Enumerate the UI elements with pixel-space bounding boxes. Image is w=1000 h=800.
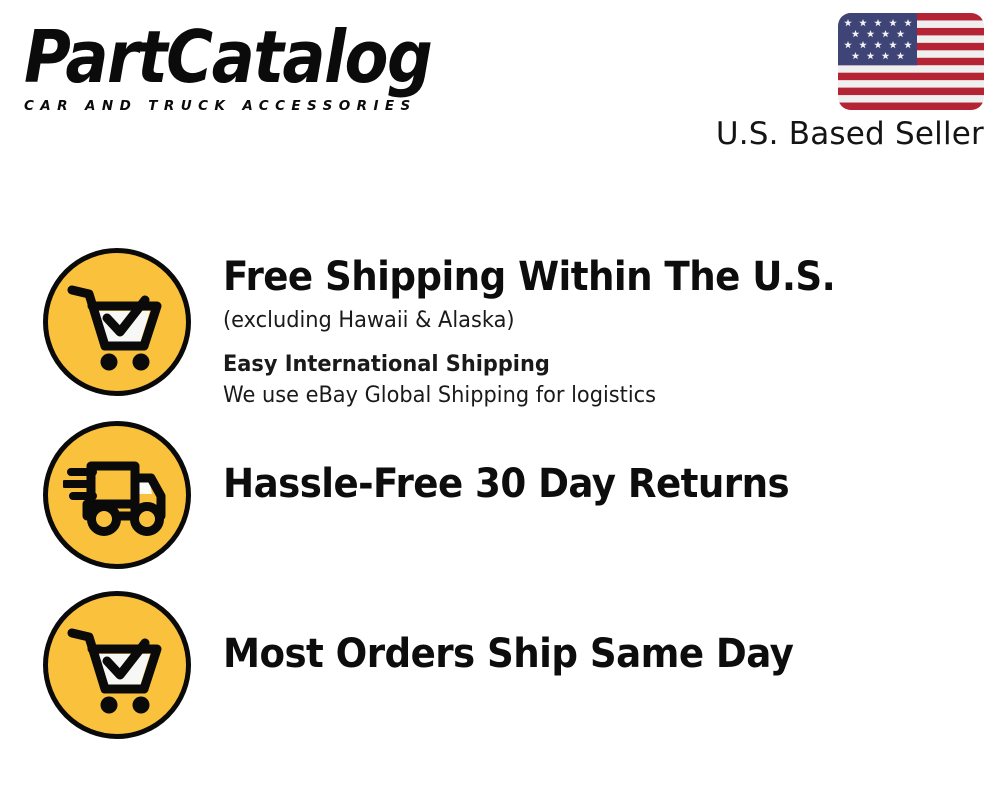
- shopping-cart-check-icon: [43, 591, 191, 739]
- benefit-row: Free Shipping Within The U.S. (excluding…: [43, 248, 973, 411]
- brand-tagline: CAR AND TRUCK ACCESSORIES: [24, 99, 494, 113]
- benefit-row: Most Orders Ship Same Day: [43, 591, 973, 739]
- benefit-row: Hassle-Free 30 Day Returns: [43, 421, 973, 569]
- delivery-truck-icon: [43, 421, 191, 569]
- page-header: PartCatalog CAR AND TRUCK ACCESSORIES: [0, 0, 1000, 170]
- us-flag-icon: [838, 13, 984, 110]
- benefit-title: Hassle-Free 30 Day Returns: [223, 461, 921, 507]
- benefit-subtext: We use eBay Global Shipping for logistic…: [223, 381, 936, 411]
- benefit-text-block: Most Orders Ship Same Day: [191, 591, 973, 677]
- benefit-text-block: Hassle-Free 30 Day Returns: [191, 421, 973, 507]
- benefit-subtext: (excluding Hawaii & Alaska): [223, 306, 936, 336]
- us-based-seller-label: U.S. Based Seller: [716, 116, 984, 152]
- brand-logo: PartCatalog CAR AND TRUCK ACCESSORIES: [24, 22, 494, 113]
- benefit-title: Free Shipping Within The U.S.: [223, 254, 921, 300]
- benefit-title: Most Orders Ship Same Day: [223, 631, 921, 677]
- benefit-text-block: Free Shipping Within The U.S. (excluding…: [191, 248, 973, 411]
- benefit-subtext-bold: Easy International Shipping: [223, 350, 936, 380]
- shopping-cart-check-icon: [43, 248, 191, 396]
- brand-wordmark: PartCatalog: [24, 22, 494, 94]
